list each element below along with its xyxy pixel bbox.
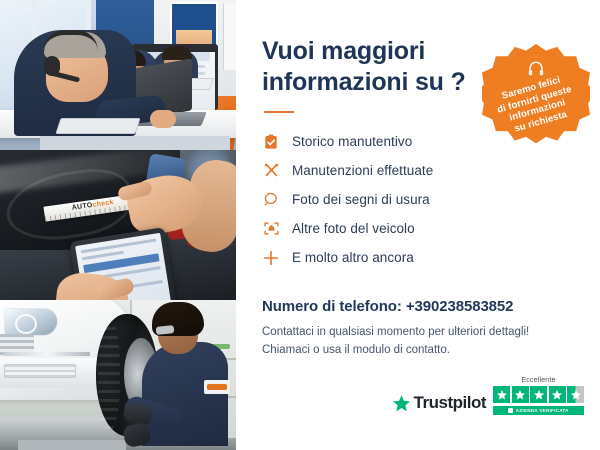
magnifier-glyph — [263, 191, 280, 208]
trustpilot-stars — [493, 386, 584, 403]
check-icon — [508, 408, 513, 413]
agent-hand — [150, 110, 176, 128]
contact-text-line-2: Chiamaci o usa il modulo di contatto. — [262, 342, 578, 360]
plus-icon — [262, 249, 280, 267]
feature-item-altre-foto-veicolo: Altre foto del veicolo — [262, 214, 578, 243]
star-icon — [551, 389, 563, 401]
trustpilot-rating-block: Eccellente — [493, 377, 584, 415]
scan-frame-glyph — [263, 220, 280, 237]
desk-base — [40, 136, 230, 150]
clipboard-check-glyph — [263, 134, 279, 150]
promo-page: AUTOcheck — [0, 0, 600, 450]
feature-label: Manutenzioni effettuate — [292, 163, 433, 178]
contact-text-line-1: Contattaci in qualsiasi momento per ulte… — [262, 324, 578, 342]
star-filled — [512, 386, 529, 403]
content-panel: Vuoi maggiori informazioni su ? Saremo f… — [236, 0, 600, 450]
feature-label: Storico manutentivo — [292, 134, 412, 149]
star-icon — [533, 389, 545, 401]
trustpilot-name: Trustpilot — [414, 393, 486, 413]
page-title: Vuoi maggiori informazioni su ? — [262, 36, 477, 97]
star-filled — [493, 386, 510, 403]
feature-label: Foto dei segni di usura — [292, 192, 430, 207]
headline-line-2: informazioni su ? — [262, 68, 466, 96]
star-icon — [570, 389, 582, 401]
verified-badge: AZIENDA VERIFICATA — [493, 406, 584, 415]
trustpilot-rating-label: Eccellente — [521, 377, 555, 384]
contact-description: Contattaci in qualsiasi momento per ulte… — [262, 324, 578, 360]
scan-frame-icon — [262, 220, 280, 238]
call-center-photo — [0, 0, 236, 150]
background-worker-hair — [162, 46, 192, 60]
magnifier-icon — [262, 191, 280, 209]
star-filled — [549, 386, 566, 403]
feature-item-molto-altro: E molto altro ancora — [262, 243, 578, 272]
feature-label: E molto altro ancora — [292, 250, 414, 265]
bumper-vent — [4, 364, 76, 378]
support-seal-badge: Saremo felici di fornirti queste informa… — [482, 44, 590, 152]
chrome-trim — [4, 352, 90, 356]
trustpilot-logo: Trustpilot — [392, 393, 486, 415]
crossed-tools-glyph — [263, 162, 280, 179]
wall-poster-secondary — [223, 4, 236, 70]
tyre-tread — [98, 318, 120, 432]
trustpilot-widget[interactable]: Trustpilot Eccellente — [392, 377, 584, 415]
star-icon — [514, 389, 526, 401]
seal-content: Saremo felici di fornirti queste informa… — [482, 44, 590, 152]
phone-number[interactable]: +390238583852 — [406, 298, 514, 315]
workshop-photo — [0, 300, 236, 450]
crossed-tools-icon — [262, 162, 280, 180]
headset-icon — [526, 60, 546, 78]
headline-line-1: Vuoi maggiori — [262, 37, 425, 65]
phone-line: Numero di telefono: +390238583852 — [262, 298, 578, 315]
feature-label: Altre foto del veicolo — [292, 221, 415, 236]
title-divider — [264, 111, 294, 113]
star-filled — [530, 386, 547, 403]
star-partial — [567, 386, 584, 403]
mechanic-body — [142, 342, 228, 446]
car-headlight — [4, 308, 58, 336]
plus-glyph — [262, 249, 280, 267]
feature-item-manutenzioni-effettuate: Manutenzioni effettuate — [262, 156, 578, 185]
seal-text: Saremo felici di fornirti queste informa… — [489, 71, 583, 139]
uniform-logo — [204, 380, 230, 394]
clipboard-check-icon — [262, 133, 280, 151]
inspection-photo: AUTOcheck — [0, 150, 236, 300]
star-icon — [496, 389, 508, 401]
feature-item-foto-segni-usura: Foto dei segni di usura — [262, 185, 578, 214]
photo-collage: AUTOcheck — [0, 0, 236, 450]
desk-keyboard — [55, 118, 140, 134]
verified-label: AZIENDA VERIFICATA — [516, 408, 569, 413]
phone-label: Numero di telefono: — [262, 298, 402, 315]
trustpilot-star-icon — [392, 394, 411, 413]
